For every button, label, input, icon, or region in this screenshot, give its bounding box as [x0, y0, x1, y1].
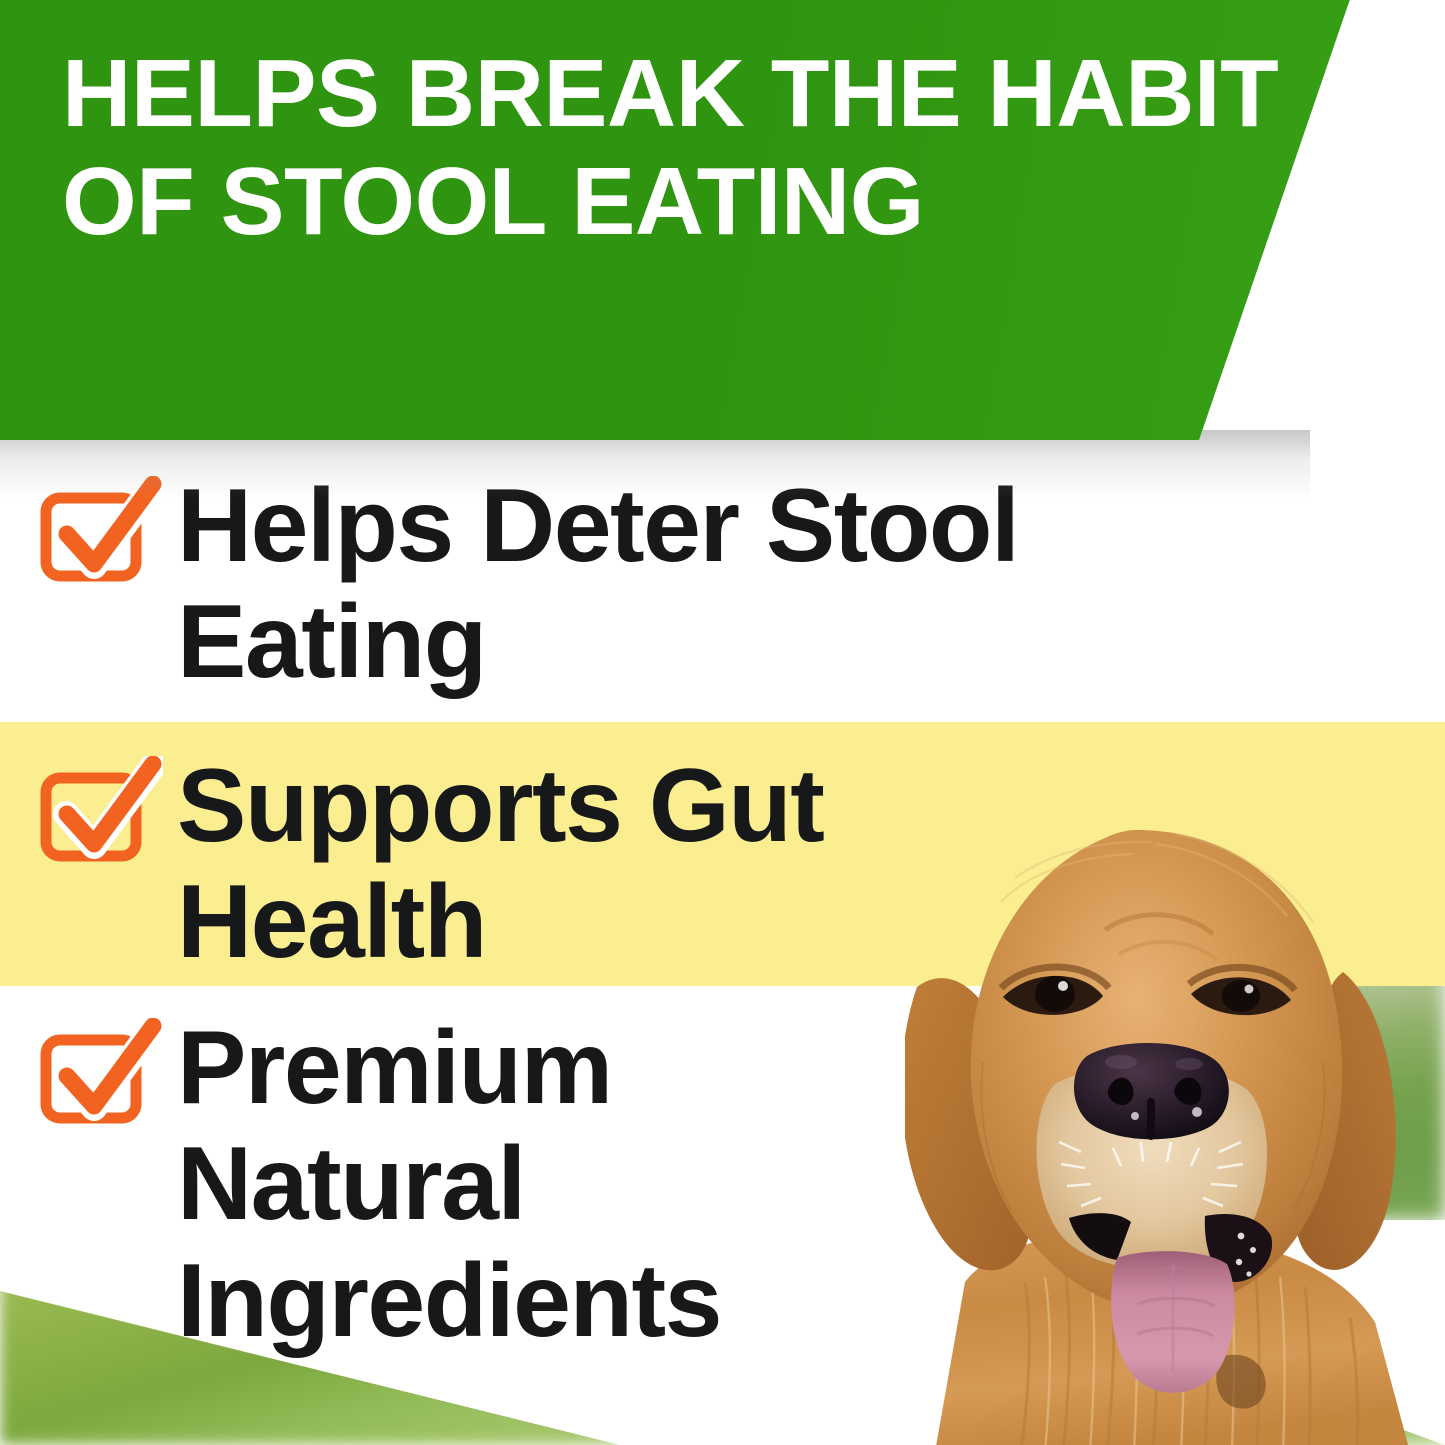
golden-retriever-photo [905, 812, 1445, 1445]
orange-check-box-icon [38, 756, 163, 874]
headline-panel-shadow [0, 430, 1310, 500]
product-benefits-poster: HELPS BREAK THE HABIT OF STOOL EATING He… [0, 0, 1445, 1445]
benefit-label: Helps Deter Stool Eating [177, 468, 1018, 701]
benefit-item-helps-deter-stool-eating: Helps Deter Stool Eating [38, 468, 1018, 701]
benefit-item-premium-natural-ingredients: Premium Natural Ingredients [38, 1010, 721, 1359]
page-title: HELPS BREAK THE HABIT OF STOOL EATING [62, 40, 1322, 257]
benefit-item-supports-gut-health: Supports Gut Health [38, 748, 823, 981]
orange-check-box-icon [38, 1018, 163, 1136]
benefit-label: Supports Gut Health [177, 748, 823, 981]
benefit-label: Premium Natural Ingredients [177, 1010, 721, 1359]
